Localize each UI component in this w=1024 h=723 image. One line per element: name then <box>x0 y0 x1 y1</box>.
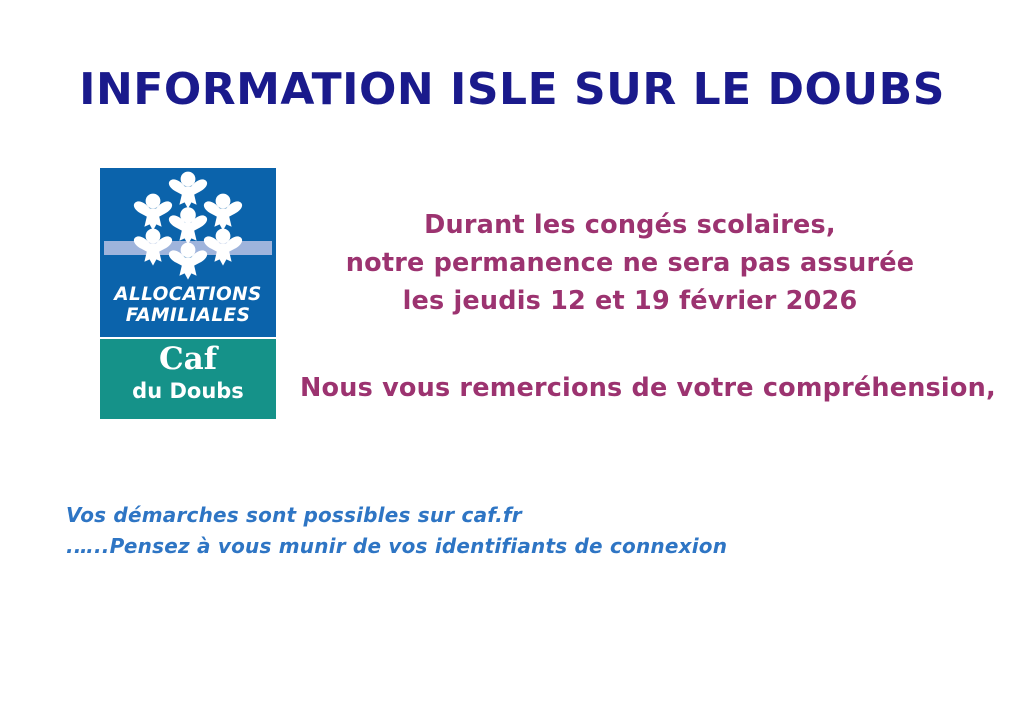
logo-bottom-panel: Caf du Doubs <box>100 339 276 419</box>
logo-caption-line2: FAMILIALES <box>100 305 276 326</box>
logo-top-panel: ALLOCATIONS FAMILIALES <box>100 168 276 337</box>
logo-caption: ALLOCATIONS FAMILIALES <box>100 284 276 326</box>
logo-brand: Caf <box>100 342 276 376</box>
main-message-line2: notre permanence ne sera pas assurée <box>300 244 960 282</box>
logo-caption-line1: ALLOCATIONS <box>100 284 276 305</box>
caf-logo: ALLOCATIONS FAMILIALES Caf du Doubs <box>100 168 276 419</box>
footer-line-caf-fr: Vos démarches sont possibles sur caf.fr <box>66 500 866 531</box>
logo-department: du Doubs <box>100 379 276 404</box>
poster-canvas: INFORMATION ISLE SUR LE DOUBS <box>0 0 1024 723</box>
page-title: INFORMATION ISLE SUR LE DOUBS <box>0 64 1024 115</box>
main-message: Durant les congés scolaires, notre perma… <box>300 206 960 320</box>
footer-note: Vos démarches sont possibles sur caf.fr … <box>66 500 866 562</box>
main-message-line1: Durant les congés scolaires, <box>300 206 960 244</box>
main-message-line3: les jeudis 12 et 19 février 2026 <box>300 282 960 320</box>
thanks-message: Nous vous remercions de votre compréhens… <box>300 371 960 405</box>
footer-line-credentials: .…..Pensez à vous munir de vos identifia… <box>66 531 866 562</box>
family-figures-icon <box>100 168 276 293</box>
